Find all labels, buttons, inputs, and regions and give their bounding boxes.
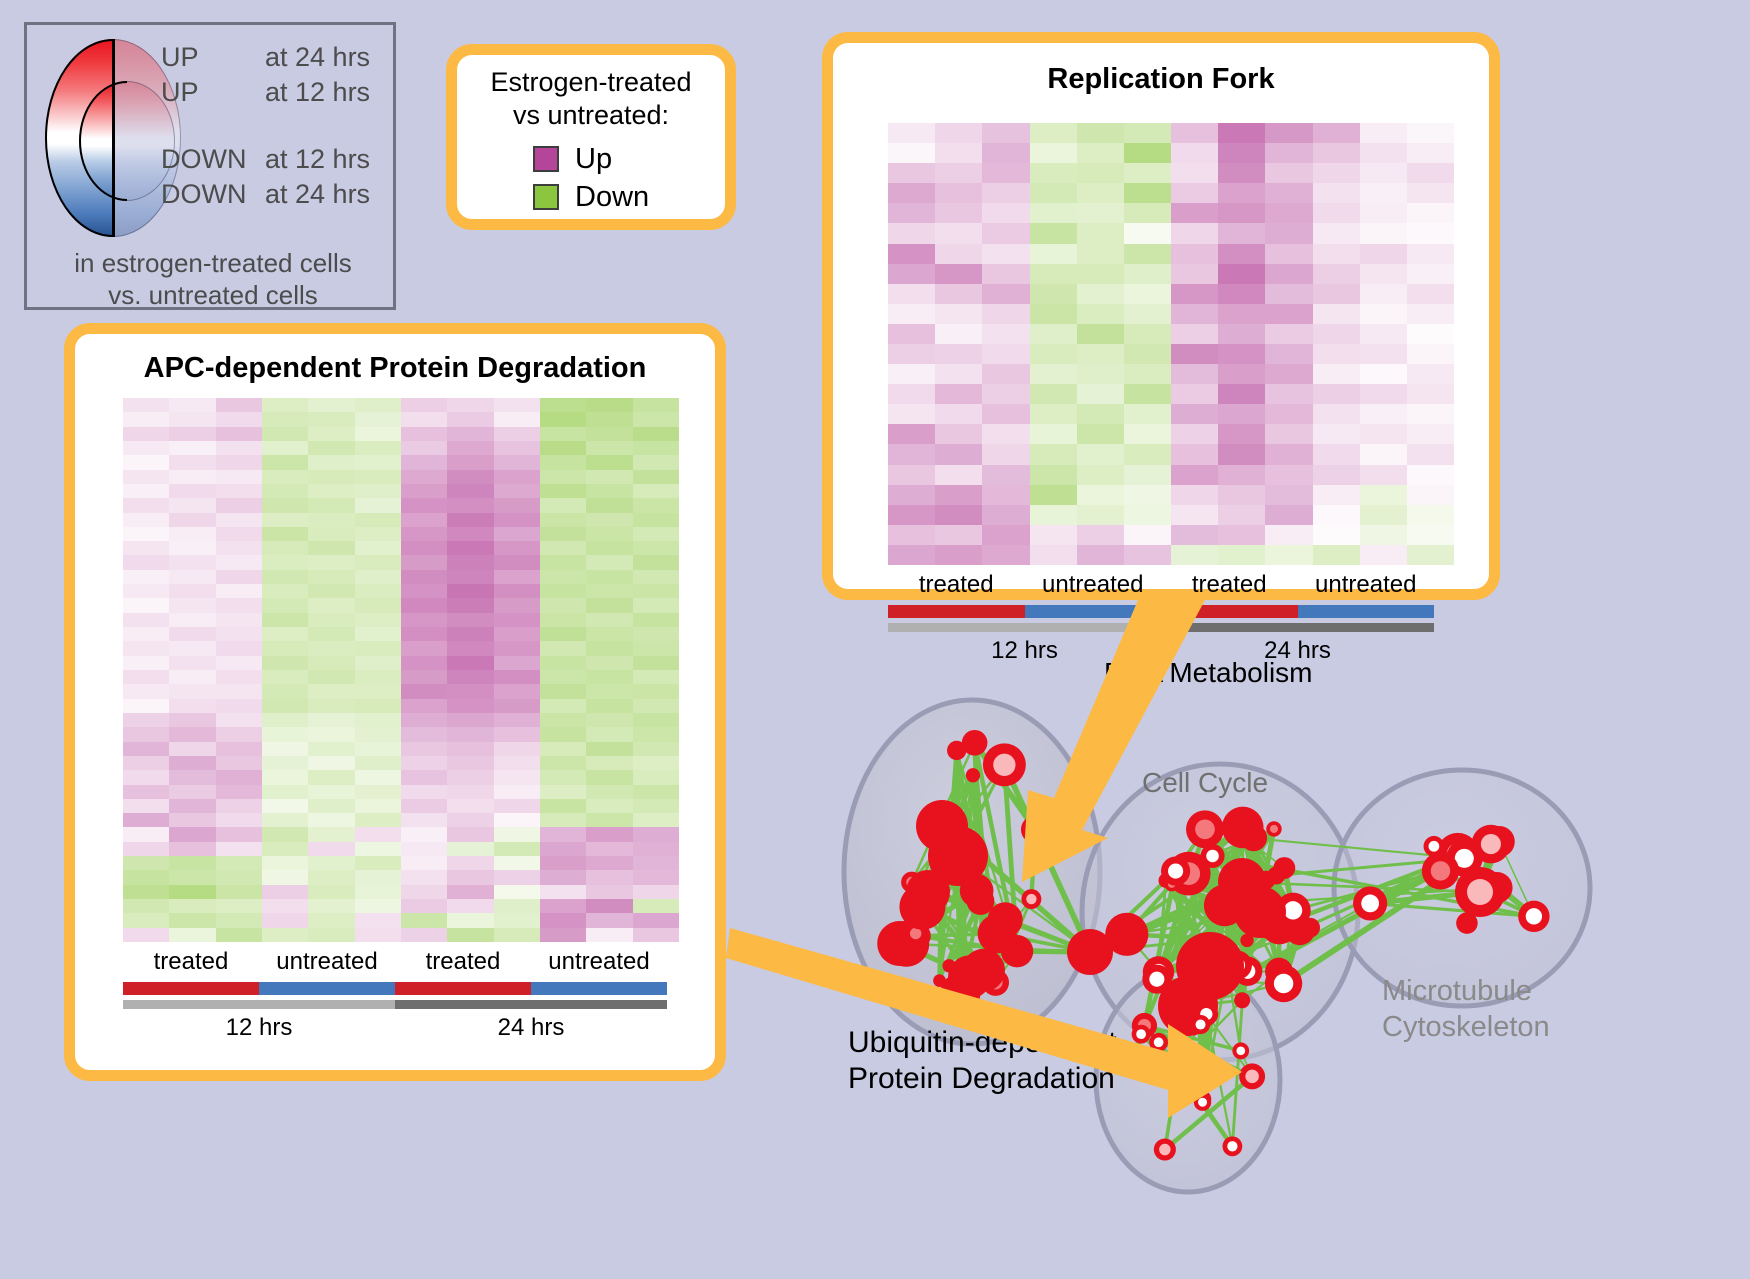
heatmap-cell: [494, 427, 540, 441]
heatmap-cell: [262, 470, 308, 484]
heatmap-cell: [1171, 183, 1218, 203]
heatmap-cell: [1218, 143, 1265, 163]
heatmap-cell: [1313, 123, 1360, 143]
heatmap-cell: [935, 545, 982, 565]
heatmap-cell: [1218, 324, 1265, 344]
heatmap-cell: [1124, 143, 1171, 163]
heatmap-cell: [401, 684, 447, 698]
heatmap-cell: [982, 223, 1029, 243]
heatmap-cell: [447, 656, 493, 670]
heatmap-cell: [1124, 505, 1171, 525]
heatmap-cell: [447, 498, 493, 512]
heatmap-cell: [1360, 525, 1407, 545]
heatmap-cell: [262, 441, 308, 455]
heatmap-cell: [586, 555, 632, 569]
heatmap-cell: [1360, 485, 1407, 505]
heatmap-cell: [540, 770, 586, 784]
heatmap-cell: [355, 555, 401, 569]
heatmap-cell: [401, 713, 447, 727]
legend-row: UP at 24 hrs: [161, 41, 399, 76]
heatmap-cell: [982, 324, 1029, 344]
heatmap-cell: [401, 484, 447, 498]
heatmap-cell: [1030, 465, 1077, 485]
apc-degradation-title: APC-dependent Protein Degradation: [75, 334, 715, 385]
heatmap-cell: [1265, 284, 1312, 304]
heatmap-cell: [1218, 223, 1265, 243]
heatmap-cell: [633, 684, 679, 698]
heatmap-cell: [355, 412, 401, 426]
heatmap-cell: [494, 827, 540, 841]
heatmap-cell: [1265, 505, 1312, 525]
heatmap-cell: [169, 770, 215, 784]
heatmap-cell: [123, 570, 169, 584]
heatmap-cell: [1030, 163, 1077, 183]
heatmap-cell: [216, 470, 262, 484]
legend-value: at 12 hrs: [265, 143, 370, 175]
heatmap-cell: [540, 555, 586, 569]
heatmap-cell: [586, 455, 632, 469]
heatmap-cell: [1077, 324, 1124, 344]
heatmap-cell: [935, 485, 982, 505]
heatmap-cell: [262, 613, 308, 627]
heatmap-cell: [1077, 264, 1124, 284]
heatmap-cell: [1313, 384, 1360, 404]
heatmap-cell: [586, 498, 632, 512]
heatmap-cell: [216, 656, 262, 670]
heatmap-cell: [216, 842, 262, 856]
heatmap-cell: [1265, 264, 1312, 284]
heatmap-cell: [1360, 264, 1407, 284]
heatmap-cell: [308, 770, 354, 784]
heatmap-cell: [1171, 404, 1218, 424]
heatmap-cell: [308, 470, 354, 484]
heatmap-cell: [540, 928, 586, 942]
circle-legend-footer: in estrogen-treated cells vs. untreated …: [27, 247, 399, 311]
heatmap-cell: [1313, 545, 1360, 565]
updown-legend-title: Estrogen-treated vs untreated:: [457, 55, 725, 132]
heatmap-cell: [262, 570, 308, 584]
heatmap-cell: [1030, 545, 1077, 565]
heatmap-cell: [1313, 143, 1360, 163]
heatmap-cell: [308, 555, 354, 569]
replication-fork-panel: Replication Fork treateduntreatedtreated…: [822, 32, 1500, 600]
heatmap-cell: [308, 799, 354, 813]
heatmap-cell: [1077, 384, 1124, 404]
heatmap-cell: [888, 143, 935, 163]
heatmap-cell: [1265, 163, 1312, 183]
heatmap-cell: [355, 928, 401, 942]
heatmap-cell: [308, 498, 354, 512]
heatmap-cell: [216, 699, 262, 713]
apc-group-labels: treateduntreatedtreateduntreated: [75, 948, 715, 976]
heatmap-cell: [1360, 223, 1407, 243]
network-node: [1021, 815, 1049, 843]
heatmap-cell: [216, 527, 262, 541]
heatmap-cell: [586, 598, 632, 612]
heatmap-cell: [262, 527, 308, 541]
network-node: [1267, 866, 1285, 884]
group-label: untreated: [1298, 571, 1435, 599]
heatmap-cell: [586, 527, 632, 541]
heatmap-cell: [633, 641, 679, 655]
legend-value: at 12 hrs: [265, 76, 370, 108]
heatmap-cell: [1265, 404, 1312, 424]
apc-treatment-bars: [75, 982, 715, 995]
network-node: [1353, 886, 1387, 920]
heatmap-cell: [540, 498, 586, 512]
heatmap-cell: [888, 183, 935, 203]
heatmap-cell: [1077, 404, 1124, 424]
heatmap-cell: [1171, 344, 1218, 364]
heatmap-cell: [123, 699, 169, 713]
heatmap-cell: [1171, 284, 1218, 304]
heatmap-cell: [540, 842, 586, 856]
heatmap-cell: [494, 670, 540, 684]
heatmap-cell: [123, 785, 169, 799]
heatmap-cell: [1030, 284, 1077, 304]
network-node: [1191, 1015, 1210, 1034]
heatmap-cell: [586, 742, 632, 756]
heatmap-cell: [1171, 163, 1218, 183]
heatmap-cell: [1030, 123, 1077, 143]
treatment-color-bar: [395, 982, 531, 995]
heatmap-cell: [169, 641, 215, 655]
heatmap-cell: [888, 163, 935, 183]
heatmap-cell: [216, 570, 262, 584]
heatmap-cell: [123, 455, 169, 469]
heatmap-cell: [1265, 384, 1312, 404]
heatmap-cell: [123, 555, 169, 569]
treatment-color-bar: [531, 982, 667, 995]
heatmap-cell: [1077, 123, 1124, 143]
heatmap-cell: [1218, 384, 1265, 404]
heatmap-cell: [1313, 344, 1360, 364]
network-node: [1021, 889, 1041, 909]
network-node: [1132, 1025, 1151, 1044]
heatmap-cell: [1124, 244, 1171, 264]
heatmap-cell: [401, 627, 447, 641]
heatmap-cell: [633, 513, 679, 527]
heatmap-cell: [935, 284, 982, 304]
heatmap-cell: [216, 899, 262, 913]
heatmap-cell: [355, 813, 401, 827]
heatmap-cell: [1218, 203, 1265, 223]
heatmap-cell: [216, 827, 262, 841]
heatmap-cell: [494, 613, 540, 627]
heatmap-cell: [494, 641, 540, 655]
heatmap-cell: [1265, 485, 1312, 505]
heatmap-cell: [1218, 284, 1265, 304]
heatmap-cell: [169, 455, 215, 469]
heatmap-cell: [935, 465, 982, 485]
heatmap-cell: [1030, 183, 1077, 203]
heatmap-cell: [401, 527, 447, 541]
heatmap-cell: [1077, 344, 1124, 364]
heatmap-cell: [401, 455, 447, 469]
network-node: [1265, 965, 1302, 1002]
heatmap-cell: [1360, 123, 1407, 143]
heatmap-cell: [123, 913, 169, 927]
heatmap-cell: [308, 584, 354, 598]
treatment-color-bar: [259, 982, 395, 995]
heatmap-cell: [1360, 244, 1407, 264]
heatmap-cell: [888, 485, 935, 505]
heatmap-cell: [447, 598, 493, 612]
network-node: [1222, 1136, 1242, 1156]
cluster-label-dna-metabolism: DNA Metabolism: [1104, 657, 1313, 688]
heatmap-cell: [169, 441, 215, 455]
heatmap-cell: [1265, 364, 1312, 384]
heatmap-cell: [633, 742, 679, 756]
heatmap-cell: [401, 541, 447, 555]
cluster-label-cell-cycle: Cell Cycle: [1142, 767, 1268, 798]
replication-fork-heatmap: [888, 123, 1454, 565]
heatmap-cell: [169, 541, 215, 555]
heatmap-cell: [540, 541, 586, 555]
legend-item-up: Up: [533, 140, 725, 178]
heatmap-cell: [1407, 485, 1454, 505]
heatmap-cell: [1124, 163, 1171, 183]
heatmap-cell: [935, 304, 982, 324]
legend-row: DOWN at 12 hrs: [161, 143, 399, 178]
heatmap-cell: [1360, 284, 1407, 304]
heatmap-cell: [494, 684, 540, 698]
heatmap-cell: [169, 498, 215, 512]
network-node: [1422, 852, 1459, 889]
heatmap-cell: [216, 727, 262, 741]
heatmap-cell: [401, 827, 447, 841]
heatmap-cell: [169, 713, 215, 727]
heatmap-cell: [633, 670, 679, 684]
heatmap-cell: [1030, 244, 1077, 264]
heatmap-cell: [447, 870, 493, 884]
heatmap-cell: [1171, 444, 1218, 464]
heatmap-cell: [888, 444, 935, 464]
heatmap-cell: [586, 713, 632, 727]
heatmap-cell: [1407, 183, 1454, 203]
heatmap-cell: [401, 441, 447, 455]
heatmap-cell: [586, 513, 632, 527]
heatmap-cell: [586, 613, 632, 627]
heatmap-cell: [494, 527, 540, 541]
heatmap-cell: [447, 827, 493, 841]
heatmap-cell: [1407, 404, 1454, 424]
heatmap-cell: [308, 827, 354, 841]
heatmap-cell: [169, 584, 215, 598]
heatmap-cell: [447, 799, 493, 813]
heatmap-cell: [982, 284, 1029, 304]
heatmap-cell: [633, 656, 679, 670]
heatmap-cell: [123, 885, 169, 899]
heatmap-cell: [540, 742, 586, 756]
heatmap-cell: [123, 470, 169, 484]
legend-key: DOWN: [161, 143, 265, 175]
heatmap-cell: [1265, 424, 1312, 444]
heatmap-cell: [935, 384, 982, 404]
heatmap-cell: [216, 684, 262, 698]
heatmap-cell: [1360, 163, 1407, 183]
heatmap-cell: [169, 813, 215, 827]
network-node: [1455, 867, 1505, 917]
heatmap-cell: [1218, 444, 1265, 464]
heatmap-cell: [633, 727, 679, 741]
heatmap-cell: [216, 613, 262, 627]
heatmap-cell: [982, 304, 1029, 324]
heatmap-cell: [216, 441, 262, 455]
heatmap-cell: [401, 899, 447, 913]
network-node: [1200, 844, 1224, 868]
apc-time-labels: 12 hrs24 hrs: [75, 1014, 715, 1042]
heatmap-cell: [1360, 364, 1407, 384]
heatmap-cell: [982, 244, 1029, 264]
legend-key: UP: [161, 41, 265, 73]
heatmap-cell: [1407, 284, 1454, 304]
heatmap-cell: [1407, 444, 1454, 464]
heatmap-cell: [169, 928, 215, 942]
heatmap-cell: [355, 899, 401, 913]
heatmap-cell: [1124, 364, 1171, 384]
heatmap-cell: [1030, 485, 1077, 505]
heatmap-cell: [935, 424, 982, 444]
heatmap-cell: [1407, 525, 1454, 545]
heatmap-cell: [982, 143, 1029, 163]
heatmap-cell: [1124, 183, 1171, 203]
heatmap-cell: [1124, 304, 1171, 324]
heatmap-cell: [401, 498, 447, 512]
heatmap-cell: [1360, 404, 1407, 424]
heatmap-cell: [355, 427, 401, 441]
heatmap-cell: [1124, 404, 1171, 424]
network-node: [1239, 1063, 1265, 1089]
heatmap-cell: [262, 656, 308, 670]
heatmap-cell: [633, 484, 679, 498]
down-label: Down: [575, 181, 649, 214]
heatmap-cell: [401, 398, 447, 412]
heatmap-cell: [1313, 465, 1360, 485]
heatmap-cell: [586, 913, 632, 927]
heatmap-cell: [633, 527, 679, 541]
heatmap-cell: [1360, 143, 1407, 163]
heatmap-cell: [401, 427, 447, 441]
heatmap-cell: [216, 555, 262, 569]
replication-fork-group-labels: treateduntreatedtreateduntreated: [833, 571, 1489, 599]
heatmap-cell: [494, 928, 540, 942]
heatmap-cell: [494, 899, 540, 913]
heatmap-cell: [633, 541, 679, 555]
heatmap-cell: [982, 123, 1029, 143]
heatmap-cell: [355, 699, 401, 713]
heatmap-cell: [540, 885, 586, 899]
heatmap-cell: [633, 441, 679, 455]
heatmap-cell: [1030, 505, 1077, 525]
heatmap-cell: [169, 470, 215, 484]
network-node: [966, 768, 980, 782]
heatmap-cell: [262, 756, 308, 770]
heatmap-cell: [540, 699, 586, 713]
heatmap-cell: [982, 384, 1029, 404]
heatmap-cell: [1218, 244, 1265, 264]
heatmap-cell: [586, 484, 632, 498]
heatmap-cell: [586, 856, 632, 870]
heatmap-cell: [123, 742, 169, 756]
heatmap-cell: [540, 756, 586, 770]
heatmap-cell: [1407, 324, 1454, 344]
heatmap-cell: [308, 742, 354, 756]
heatmap-cell: [540, 799, 586, 813]
apc-degradation-heatmap: [123, 398, 679, 942]
heatmap-cell: [633, 627, 679, 641]
heatmap-cell: [401, 913, 447, 927]
time-color-bar: [395, 1000, 667, 1009]
network-node: [1194, 1094, 1211, 1111]
heatmap-cell: [355, 656, 401, 670]
heatmap-cell: [123, 870, 169, 884]
heatmap-cell: [401, 756, 447, 770]
heatmap-cell: [355, 541, 401, 555]
heatmap-cell: [308, 842, 354, 856]
heatmap-cell: [447, 899, 493, 913]
heatmap-cell: [169, 570, 215, 584]
time-label: 24 hrs: [395, 1014, 667, 1042]
heatmap-cell: [355, 598, 401, 612]
heatmap-cell: [1030, 525, 1077, 545]
heatmap-cell: [1265, 304, 1312, 324]
heatmap-cell: [355, 727, 401, 741]
heatmap-cell: [308, 756, 354, 770]
heatmap-cell: [1171, 123, 1218, 143]
heatmap-cell: [982, 183, 1029, 203]
heatmap-cell: [262, 627, 308, 641]
heatmap-cell: [494, 627, 540, 641]
heatmap-cell: [262, 885, 308, 899]
heatmap-cell: [494, 885, 540, 899]
heatmap-cell: [355, 713, 401, 727]
heatmap-cell: [1030, 344, 1077, 364]
heatmap-cell: [123, 713, 169, 727]
heatmap-cell: [355, 641, 401, 655]
heatmap-cell: [586, 584, 632, 598]
heatmap-cell: [308, 899, 354, 913]
heatmap-cell: [1077, 364, 1124, 384]
heatmap-cell: [355, 455, 401, 469]
heatmap-cell: [216, 498, 262, 512]
vertical-divider: [112, 39, 115, 237]
heatmap-cell: [1407, 123, 1454, 143]
heatmap-cell: [633, 398, 679, 412]
heatmap-cell: [262, 412, 308, 426]
heatmap-cell: [308, 570, 354, 584]
heatmap-cell: [540, 412, 586, 426]
heatmap-cell: [262, 899, 308, 913]
heatmap-cell: [982, 264, 1029, 284]
heatmap-cell: [401, 785, 447, 799]
heatmap-cell: [308, 913, 354, 927]
heatmap-cell: [1407, 384, 1454, 404]
heatmap-cell: [308, 656, 354, 670]
heatmap-cell: [586, 727, 632, 741]
heatmap-cell: [308, 856, 354, 870]
heatmap-cell: [888, 505, 935, 525]
heatmap-cell: [1313, 444, 1360, 464]
heatmap-cell: [401, 856, 447, 870]
heatmap-cell: [123, 584, 169, 598]
heatmap-cell: [169, 527, 215, 541]
heatmap-cell: [1171, 244, 1218, 264]
heatmap-cell: [982, 203, 1029, 223]
heatmap-cell: [888, 223, 935, 243]
heatmap-cell: [355, 913, 401, 927]
network-node: [962, 949, 1005, 992]
